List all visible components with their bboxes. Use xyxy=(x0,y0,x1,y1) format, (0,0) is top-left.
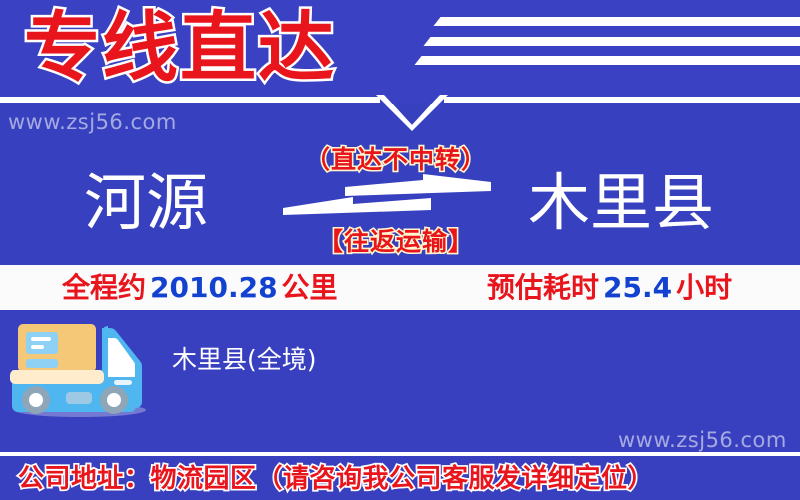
divider-rule-left xyxy=(0,97,380,103)
route-tag-roundtrip: 【往返运输】 xyxy=(318,222,474,258)
diagonal-stripe-1 xyxy=(433,17,800,26)
company-address: 公司地址：物流园区（请咨询我公司客服发详细定位） xyxy=(18,462,654,496)
distance-prefix: 全程约 xyxy=(62,271,146,304)
distance-unit: 公里 xyxy=(282,271,338,304)
destination-city: 木里县 xyxy=(528,165,714,241)
diagonal-stripe-2 xyxy=(423,37,800,46)
diagonal-stripe-3 xyxy=(414,56,800,65)
distance-info: 全程约2010.28公里 xyxy=(62,271,338,305)
logistics-route-poster: 专线直达 www.zsj56.com www.zsj56.com 河源 木里县 … xyxy=(0,0,800,500)
distance-value: 2010.28 xyxy=(146,271,282,304)
divider-rule-right xyxy=(444,97,800,103)
watermark-bottom: www.zsj56.com xyxy=(618,428,787,452)
delivery-truck-icon xyxy=(6,318,158,418)
watermark-top: www.zsj56.com xyxy=(8,110,177,134)
route-tag-direct: （直达不中转） xyxy=(305,140,487,176)
duration-value: 25.4 xyxy=(599,271,676,304)
duration-prefix: 预估耗时 xyxy=(487,271,599,304)
bidirectional-arrow-icon xyxy=(283,174,491,222)
page-title: 专线直达 xyxy=(24,2,336,94)
coverage-label: 木里县(全境) xyxy=(172,344,317,376)
origin-city: 河源 xyxy=(84,165,208,241)
info-bar: 全程约2010.28公里 预估耗时25.4小时 xyxy=(0,265,800,310)
duration-unit: 小时 xyxy=(676,271,732,304)
footer-divider xyxy=(0,452,800,456)
chevron-down-icon-inner xyxy=(388,104,436,130)
duration-info: 预估耗时25.4小时 xyxy=(487,271,732,305)
